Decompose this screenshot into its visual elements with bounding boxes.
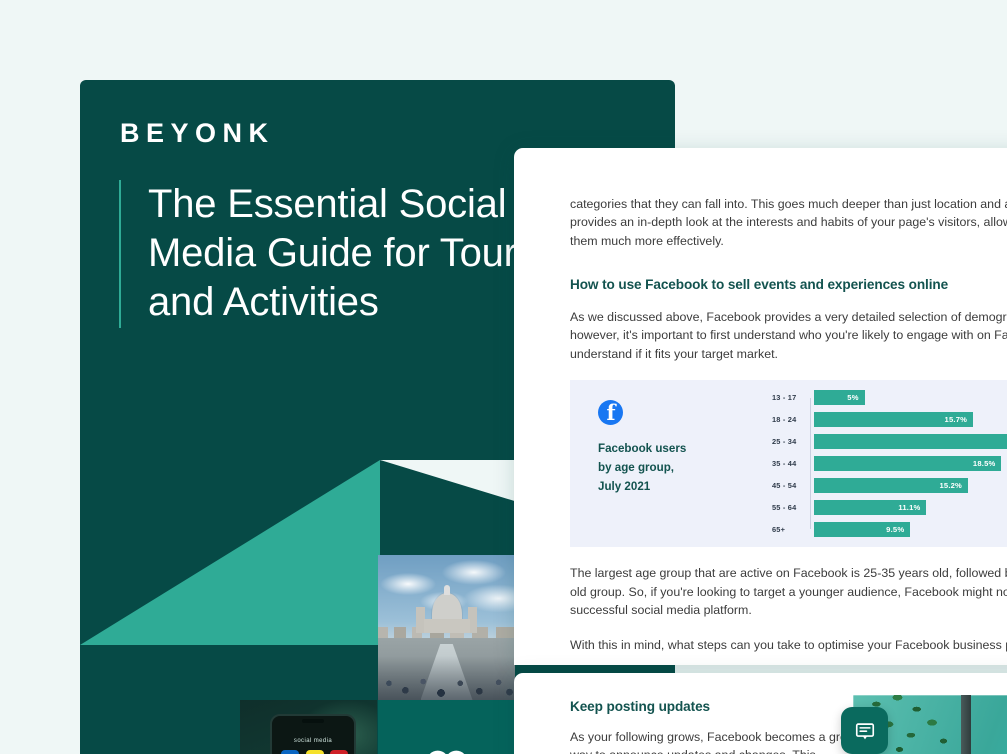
bar-category-label: 13 - 17 [772,393,814,402]
bar-category-label: 35 - 44 [772,459,814,468]
facebook-icon [598,400,623,425]
bar-track: 18.5% [814,456,1007,471]
bar-track: 15.2% [814,478,1007,493]
chart-bar: 15.7% [814,412,973,427]
bar-value-label: 5% [847,393,858,402]
paragraph-demographics: As we discussed above, Facebook provides… [570,308,1007,363]
heart-icon [425,747,469,754]
chart-caption-line-2: by age group, [598,459,768,478]
chart-bar: 11.1% [814,500,926,515]
snapchat-icon: Snapchat [306,750,324,754]
cover-title-block: The Essential Social Media Guide for Tou… [119,180,549,328]
page-2-text-column: Keep posting updates As your following g… [570,673,860,754]
st-pauls-cathedral-photo [378,555,515,700]
bar-category-label: 45 - 54 [772,481,814,490]
app-icon-grid: LinkedIn Snapchat Pinterest Twitter Tele… [281,750,349,754]
document-page-1: categories that they can fall into. This… [514,148,1007,665]
chart-bar-row: 18 - 24 15.7% [772,412,1007,427]
page-1-content: categories that they can fall into. This… [514,195,1007,655]
bar-track: 15.7% [814,412,1007,427]
linkedin-icon: LinkedIn [281,750,299,754]
bar-value-label: 15.2% [939,481,962,490]
crowd-of-people [378,656,515,700]
chart-axis [810,398,811,529]
chat-widget-button[interactable] [841,707,888,754]
wall-divider [961,695,971,754]
chart-bar: 18.5% [814,456,1001,471]
brand-logo: BEYONK [120,120,275,147]
chart-bar: 15.2% [814,478,968,493]
bar-value-label: 18.5% [973,459,996,468]
bar-track: 9.5% [814,522,1007,537]
bar-value-label: 9.5% [886,525,904,534]
bar-value-label: 15.7% [945,415,968,424]
chart-bar: 9.5% [814,522,910,537]
phone-social-apps-photo: social media LinkedIn Snapchat Pinterest… [240,700,377,754]
intro-paragraph: categories that they can fall into. This… [570,195,1007,250]
facebook-age-infographic: Facebook users by age group, July 2021 1… [570,380,1007,547]
infographic-caption-block: Facebook users by age group, July 2021 [598,396,768,531]
title-accent-bar [119,180,121,328]
phone-notch [302,719,324,723]
bar-track: 11.1% [814,500,1007,515]
document-page-2: Keep posting updates As your following g… [514,673,1007,754]
pinterest-icon: Pinterest [330,750,348,754]
chart-caption-line-3: July 2021 [598,478,768,497]
chat-bubble-icon [854,720,876,742]
chart-caption-line-1: Facebook users [598,440,768,459]
app-folder-label: social media [272,738,354,744]
bar-track: 2 [814,434,1007,449]
paragraph-optimise-question: With this in mind, what steps can you ta… [570,636,1007,654]
heart-tile [378,700,515,754]
section-heading-facebook: How to use Facebook to sell events and e… [570,277,1007,292]
chart-bar-row: 13 - 17 5% [772,390,1007,405]
chart-bar: 2 [814,434,1007,449]
page-2-content: Keep posting updates As your following g… [514,673,1007,754]
smartphone-device: social media LinkedIn Snapchat Pinterest… [270,714,356,754]
screenshot-root: BEYONK The Essential Social Media Guide … [0,0,1007,754]
bar-category-label: 25 - 34 [772,437,814,446]
chart-bar-row: 65+ 9.5% [772,522,1007,537]
chart-bar-row: 25 - 34 2 [772,434,1007,449]
bar-category-label: 55 - 64 [772,503,814,512]
section-heading-keep-posting: Keep posting updates [570,699,860,714]
chart-bar-row: 35 - 44 18.5% [772,456,1007,471]
chart-bar-row: 55 - 64 11.1% [772,500,1007,515]
bar-track: 5% [814,390,1007,405]
page-title: The Essential Social Media Guide for Tou… [148,180,549,328]
chart-bar-row: 45 - 54 15.2% [772,478,1007,493]
paragraph-largest-age-group: The largest age group that are active on… [570,564,1007,619]
paragraph-keep-posting: As your following grows, Facebook become… [570,728,860,754]
age-group-bar-chart: 13 - 17 5% 18 - 24 15.7% [768,396,1007,531]
bar-value-label: 11.1% [898,503,920,512]
chart-bar: 5% [814,390,865,405]
bar-category-label: 18 - 24 [772,415,814,424]
bar-category-label: 65+ [772,525,814,534]
